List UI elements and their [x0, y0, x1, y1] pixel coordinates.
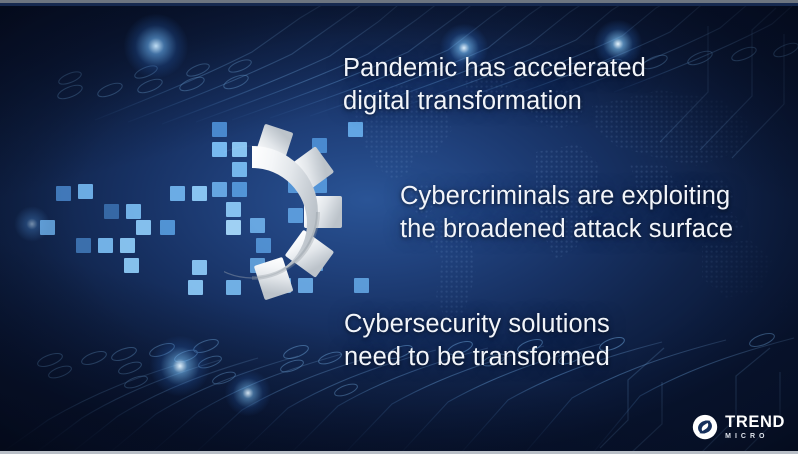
headline-cybercriminals: Cybercriminals are exploiting the broade… — [400, 180, 733, 246]
half-gear-icon — [206, 112, 356, 312]
swirl-logo-icon — [692, 414, 718, 440]
letterbox-top-inner — [0, 3, 798, 6]
headline-pandemic: Pandemic has accelerated digital transfo… — [343, 52, 646, 118]
trend-micro-logo: TREND MICRO — [692, 414, 785, 440]
logo-wordmark: TREND MICRO — [725, 414, 785, 440]
headline-cybersecurity: Cybersecurity solutions need to be trans… — [344, 308, 610, 374]
logo-trend-text: TREND — [725, 414, 785, 431]
slide-canvas: Pandemic has accelerated digital transfo… — [0, 0, 798, 454]
logo-micro-text: MICRO — [725, 433, 785, 440]
